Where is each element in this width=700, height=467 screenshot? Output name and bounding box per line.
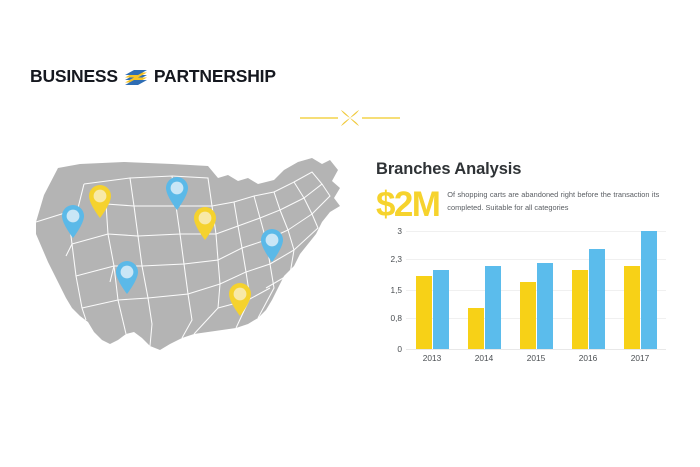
usa-map-svg [22, 148, 362, 363]
chart-bar-group[interactable] [458, 231, 510, 349]
branches-analysis-panel: Branches Analysis $2M Of shopping carts … [376, 160, 676, 221]
chart-gridline [406, 349, 666, 350]
united-states-map[interactable] [22, 148, 362, 363]
chart-bar-group[interactable] [510, 231, 562, 349]
branches-bar-chart[interactable]: 00,81,52,33 20132014201520162017 [378, 231, 666, 367]
chart-y-tick-label: 3 [382, 226, 402, 236]
chart-plot-area [406, 231, 666, 349]
chart-bar[interactable] [624, 266, 640, 349]
chart-y-tick-label: 2,3 [382, 254, 402, 264]
four-point-star-ornament [300, 105, 400, 131]
chart-bar[interactable] [416, 276, 432, 349]
chart-x-tick-label: 2017 [614, 353, 666, 363]
chart-bar-group[interactable] [562, 231, 614, 349]
chart-y-axis: 00,81,52,33 [378, 231, 402, 349]
chart-bar[interactable] [468, 308, 484, 349]
chart-y-tick-label: 0 [382, 344, 402, 354]
chart-y-tick-label: 0,8 [382, 313, 402, 323]
chart-x-tick-label: 2016 [562, 353, 614, 363]
slide-canvas: BUSINESS PARTNERSHIP [0, 0, 700, 467]
chart-bar-groups [406, 231, 666, 349]
kpi-value: $2M [376, 188, 439, 221]
kpi-description: Of shopping carts are abandoned right be… [447, 189, 659, 215]
brand-word-left: BUSINESS [30, 68, 118, 86]
chart-x-tick-label: 2015 [510, 353, 562, 363]
chart-x-axis: 20132014201520162017 [406, 353, 666, 363]
chart-x-tick-label: 2014 [458, 353, 510, 363]
chart-bar-group[interactable] [614, 231, 666, 349]
stacked-books-logo-mark [123, 67, 149, 87]
chart-bar[interactable] [433, 270, 449, 349]
map-landmass [36, 158, 340, 350]
brand-word-right: PARTNERSHIP [154, 68, 276, 86]
chart-x-tick-label: 2013 [406, 353, 458, 363]
chart-bar[interactable] [520, 282, 536, 349]
chart-bar[interactable] [641, 231, 657, 349]
page-title: Branches Analysis [376, 160, 676, 178]
chart-bar[interactable] [537, 263, 553, 349]
chart-bar-group[interactable] [406, 231, 458, 349]
brand-logo: BUSINESS PARTNERSHIP [30, 67, 276, 87]
chart-bar[interactable] [572, 270, 588, 349]
kpi-row: $2M Of shopping carts are abandoned righ… [376, 186, 676, 221]
chart-bar[interactable] [589, 249, 605, 349]
chart-y-tick-label: 1,5 [382, 285, 402, 295]
chart-bar[interactable] [485, 266, 501, 349]
